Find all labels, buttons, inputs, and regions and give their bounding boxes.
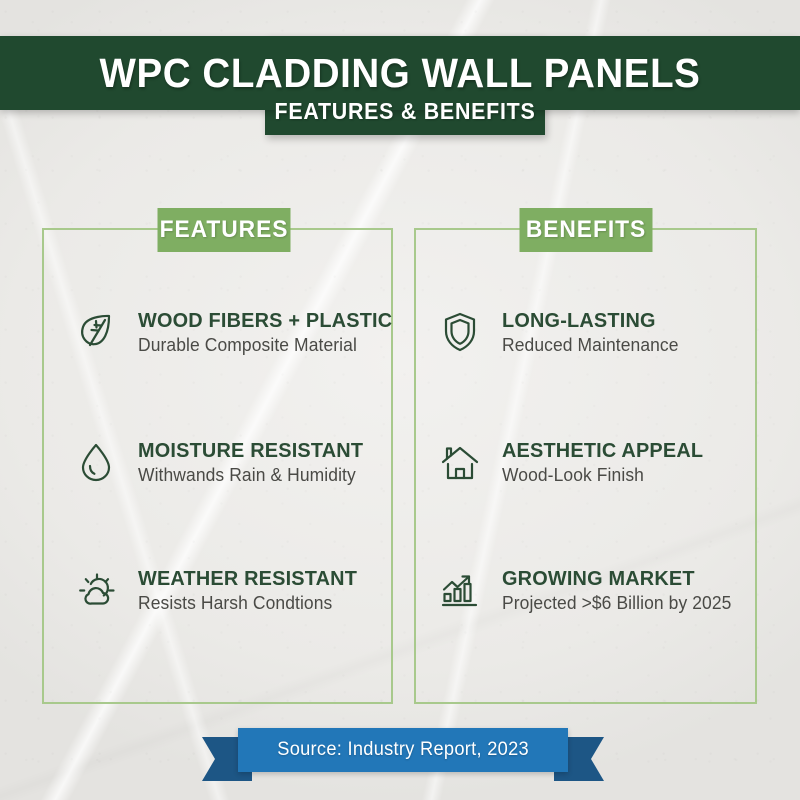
- source-ribbon: Source: Industry Report, 2023: [238, 728, 568, 772]
- benefit-text: GROWING MARKET Projected >$6 Billion by …: [502, 567, 739, 614]
- features-badge: FEATURES: [158, 208, 291, 252]
- feature-title: WOOD FIBERS + PLASTIC: [138, 309, 392, 333]
- benefit-text: AESTHETIC APPEAL Wood-Look Finish: [502, 439, 709, 486]
- feature-subtitle: Withwands Rain & Humidity: [138, 465, 363, 486]
- feature-text: WOOD FIBERS + PLASTIC Durable Composite …: [138, 309, 400, 356]
- water-drop-icon: [72, 438, 120, 486]
- benefit-subtitle: Wood-Look Finish: [502, 465, 703, 486]
- feature-subtitle: Durable Composite Material: [138, 335, 392, 356]
- feature-text: MOISTURE RESISTANT Withwands Rain & Humi…: [138, 439, 370, 486]
- leaf-icon: [72, 308, 120, 356]
- benefit-title: AESTHETIC APPEAL: [502, 439, 703, 463]
- feature-subtitle: Resists Harsh Condtions: [138, 593, 357, 614]
- benefit-subtitle: Reduced Maintenance: [502, 335, 679, 356]
- feature-item-wood-fibers-plastic: WOOD FIBERS + PLASTIC Durable Composite …: [72, 308, 392, 356]
- growth-chart-icon: [436, 566, 484, 614]
- shield-icon: [436, 308, 484, 356]
- feature-title: WEATHER RESISTANT: [138, 567, 357, 591]
- feature-item-weather-resistant: WEATHER RESISTANT Resists Harsh Condtion…: [72, 566, 392, 614]
- ribbon-body: Source: Industry Report, 2023: [238, 728, 568, 772]
- benefit-item-growing-market: GROWING MARKET Projected >$6 Billion by …: [436, 566, 756, 614]
- source-label: Source: Industry Report, 2023: [277, 739, 529, 761]
- benefits-badge: BENEFITS: [520, 208, 653, 252]
- features-column: FEATURES WOOD FIBERS + PLASTIC Durable C…: [42, 228, 393, 704]
- feature-item-moisture-resistant: MOISTURE RESISTANT Withwands Rain & Humi…: [72, 438, 392, 486]
- feature-text: WEATHER RESISTANT Resists Harsh Condtion…: [138, 567, 364, 614]
- benefit-title: LONG-LASTING: [502, 309, 679, 333]
- benefit-title: GROWING MARKET: [502, 567, 731, 591]
- benefit-item-aesthetic-appeal: AESTHETIC APPEAL Wood-Look Finish: [436, 438, 756, 486]
- benefit-text: LONG-LASTING Reduced Maintenance: [502, 309, 684, 356]
- benefit-subtitle: Projected >$6 Billion by 2025: [502, 593, 731, 614]
- page-subtitle: FEATURES & BENEFITS: [275, 95, 535, 127]
- benefit-item-long-lasting: LONG-LASTING Reduced Maintenance: [436, 308, 756, 356]
- house-icon: [436, 438, 484, 486]
- sun-cloud-icon: [72, 566, 120, 614]
- feature-title: MOISTURE RESISTANT: [138, 439, 363, 463]
- benefits-column: BENEFITS LONG-LASTING Reduced Maintenanc…: [414, 228, 757, 704]
